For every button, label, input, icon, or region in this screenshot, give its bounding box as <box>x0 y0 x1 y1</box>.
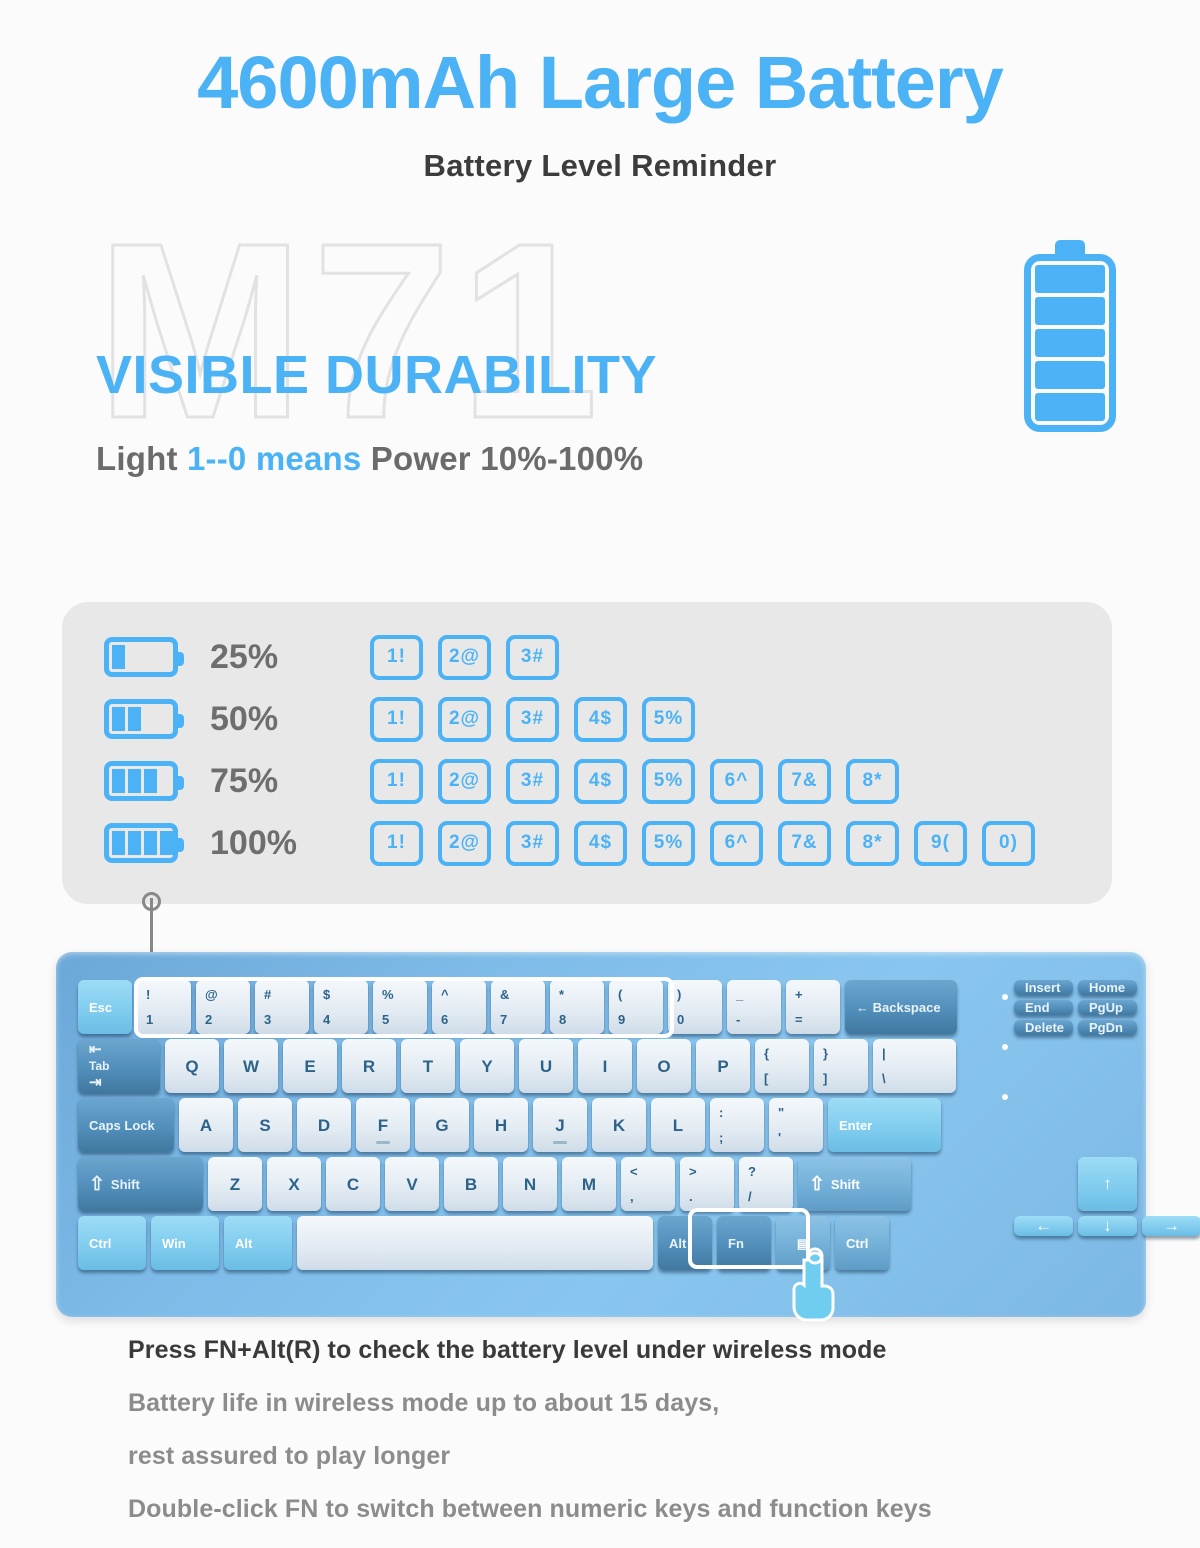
key-g[interactable]: G <box>415 1098 469 1152</box>
key-label: Home <box>1089 980 1125 995</box>
key-q[interactable]: Q <box>165 1039 219 1093</box>
key-label: R <box>363 1058 375 1075</box>
lit-key-cap: 2@ <box>438 635 491 680</box>
key-tab[interactable]: ⇤Tab⇥ <box>78 1039 160 1093</box>
key-delete[interactable]: Delete <box>1014 1020 1073 1035</box>
lit-key-cap: 8* <box>846 821 899 866</box>
key-label: M <box>582 1176 596 1193</box>
key-label: Tab <box>89 1060 109 1072</box>
key-legend-top: ^ <box>441 987 449 1002</box>
keyboard-row-bottom: CtrlWinAltAltFn▤Ctrl <box>78 1216 1124 1270</box>
key-backspace[interactable]: ← Backspace <box>845 980 957 1034</box>
key-legend-top: # <box>264 987 271 1002</box>
key-label: Shift <box>831 1177 860 1192</box>
arrow-row: ↑ <box>1078 1157 1200 1211</box>
battery-level-row: 75%1!2@3#4$5%6^7&8* <box>62 750 1112 812</box>
key-label: Q <box>185 1058 198 1075</box>
battery-body <box>1024 254 1116 432</box>
key-legend-bottom: 6 <box>441 1012 448 1027</box>
lit-key-cap: 3# <box>506 697 559 742</box>
key-home[interactable]: Home <box>1078 980 1137 995</box>
battery-bar <box>112 645 125 669</box>
lit-key-cap: 4$ <box>574 759 627 804</box>
key-legend-bottom: - <box>736 1012 740 1027</box>
key-label: Alt <box>669 1237 686 1250</box>
battery-bar <box>112 831 125 855</box>
key-v[interactable]: V <box>385 1157 439 1211</box>
key-label: Ctrl <box>89 1237 111 1250</box>
lit-key-cap: 3# <box>506 821 559 866</box>
key-label: X <box>288 1176 299 1193</box>
key-t[interactable]: T <box>401 1039 455 1093</box>
key-shift[interactable]: ⇧Shift <box>78 1157 203 1211</box>
keyboard-illustration: Esc!1@2#3$4%5^6&7*8(9)0_-+=← Backspace ⇤… <box>56 952 1146 1317</box>
keyboard-row-number: Esc!1@2#3$4%5^6&7*8(9)0_-+=← Backspace <box>78 980 1124 1034</box>
lit-key-cap: 1! <box>370 697 423 742</box>
footer-line-2: Battery life in wireless mode up to abou… <box>128 1389 1128 1418</box>
key-insert[interactable]: Insert <box>1014 980 1073 995</box>
key-legend-top: < <box>630 1164 638 1179</box>
key-legend-bottom: 4 <box>323 1012 330 1027</box>
key-key[interactable]: |\ <box>873 1039 956 1093</box>
key-label: A <box>200 1117 212 1134</box>
key-legend-top: ( <box>618 987 622 1002</box>
key-label: Y <box>481 1058 492 1075</box>
shift-arrow-icon: ⇧ <box>809 1175 825 1194</box>
battery-segment <box>1035 329 1105 357</box>
key-legend-bottom: ' <box>778 1130 781 1145</box>
key-9[interactable]: (9 <box>609 980 663 1034</box>
status-led-dots <box>1002 994 1008 1100</box>
light-legend: Light 1--0 means Power 10%-100% <box>96 440 643 478</box>
key-u[interactable]: U <box>519 1039 573 1093</box>
key-o[interactable]: O <box>637 1039 691 1093</box>
key-alt[interactable]: Alt <box>658 1216 712 1270</box>
key-legend-bottom: 3 <box>264 1012 271 1027</box>
light-highlight: 1--0 means <box>187 440 361 477</box>
arrow-up-icon: ↑ <box>1103 1174 1112 1194</box>
key-p[interactable]: P <box>696 1039 750 1093</box>
key-legend-bottom: 7 <box>500 1012 507 1027</box>
key-legend-top: _ <box>736 987 743 1002</box>
key-label: T <box>423 1058 433 1075</box>
led-dot <box>1002 1044 1008 1050</box>
key-legend-top: | <box>882 1046 886 1061</box>
key-legend-top: ) <box>677 987 681 1002</box>
key-arrow-right[interactable]: → <box>1142 1216 1200 1236</box>
key-legend-top: % <box>382 987 394 1002</box>
battery-level-icon <box>104 637 178 677</box>
lit-key-list: 1!2@3#4$5% <box>370 697 695 742</box>
key-legend-bottom: 0 <box>677 1012 684 1027</box>
lit-key-list: 1!2@3# <box>370 635 559 680</box>
key-d[interactable]: D <box>297 1098 351 1152</box>
key-3[interactable]: #3 <box>255 980 309 1034</box>
key-label: Shift <box>111 1177 140 1192</box>
key-legend-top: > <box>689 1164 697 1179</box>
battery-percent-label: 25% <box>210 638 360 677</box>
battery-bar <box>112 769 125 793</box>
key-label: C <box>347 1176 359 1193</box>
key-legend-bottom: \ <box>882 1071 886 1086</box>
lit-key-cap: 2@ <box>438 759 491 804</box>
key-legend-bottom: ] <box>823 1071 827 1086</box>
durability-heading: VISIBLE DURABILITY <box>96 344 657 406</box>
key-legend-bottom: 1 <box>146 1012 153 1027</box>
lit-key-cap: 5% <box>642 821 695 866</box>
battery-bar <box>128 769 141 793</box>
battery-bar <box>112 707 125 731</box>
key-key[interactable]: }] <box>814 1039 868 1093</box>
key-label: V <box>406 1176 417 1193</box>
battery-bar <box>144 831 157 855</box>
lit-key-cap: 0) <box>982 821 1035 866</box>
battery-level-row: 50%1!2@3#4$5% <box>62 688 1112 750</box>
key-end[interactable]: End <box>1014 1000 1073 1015</box>
key-key[interactable]: += <box>786 980 840 1034</box>
key-r[interactable]: R <box>342 1039 396 1093</box>
battery-bar <box>160 831 173 855</box>
key-legend-top: { <box>764 1046 769 1061</box>
key-arrow-up[interactable]: ↑ <box>1078 1157 1137 1211</box>
key-label: F <box>378 1117 388 1134</box>
key-legend-bottom: 8 <box>559 1012 566 1027</box>
key-label: End <box>1025 1000 1050 1015</box>
led-dot <box>1002 994 1008 1000</box>
key-legend-top: : <box>719 1105 723 1120</box>
battery-full-icon <box>1024 240 1116 432</box>
key-h[interactable]: H <box>474 1098 528 1152</box>
led-dot <box>1002 1094 1008 1100</box>
key-label: E <box>304 1058 315 1075</box>
battery-segment <box>1035 265 1105 293</box>
tab-left-arrow-icon: ⇤ <box>89 1042 102 1057</box>
key-legend-bottom: , <box>630 1189 634 1204</box>
key-key[interactable]: >. <box>680 1157 734 1211</box>
key-key[interactable]: _- <box>727 980 781 1034</box>
key-4[interactable]: $4 <box>314 980 368 1034</box>
key-legend-top: ? <box>748 1164 756 1179</box>
key-key[interactable]: <, <box>621 1157 675 1211</box>
key-label: K <box>613 1117 625 1134</box>
key-k[interactable]: K <box>592 1098 646 1152</box>
lit-key-cap: 5% <box>642 759 695 804</box>
key-m[interactable]: M <box>562 1157 616 1211</box>
lit-key-cap: 6^ <box>710 821 763 866</box>
battery-percent-label: 50% <box>210 700 360 739</box>
key-0[interactable]: )0 <box>668 980 722 1034</box>
key-label: Enter <box>839 1119 872 1132</box>
key-label: ← Backspace <box>856 1001 941 1014</box>
key-pgup[interactable]: PgUp <box>1078 1000 1137 1015</box>
key-arrow-left[interactable]: ← <box>1014 1216 1073 1236</box>
lit-key-list: 1!2@3#4$5%6^7&8*9(0) <box>370 821 1035 866</box>
key-legend-top: + <box>795 987 803 1002</box>
key-label: D <box>318 1117 330 1134</box>
key-caps-lock[interactable]: Caps Lock <box>78 1098 174 1152</box>
key-legend-bottom: 2 <box>205 1012 212 1027</box>
key-c[interactable]: C <box>326 1157 380 1211</box>
lit-key-cap: 9( <box>914 821 967 866</box>
key-legend-bottom: 5 <box>382 1012 389 1027</box>
key-label: S <box>259 1117 270 1134</box>
key-label: O <box>657 1058 670 1075</box>
key-label: H <box>495 1117 507 1134</box>
key-arrow-down[interactable]: ↓ <box>1078 1216 1137 1236</box>
footer-notes: Press FN+Alt(R) to check the battery lev… <box>128 1336 1128 1548</box>
lit-key-cap: 6^ <box>710 759 763 804</box>
key-n[interactable]: N <box>503 1157 557 1211</box>
battery-segment <box>1035 361 1105 389</box>
key-label: Win <box>162 1237 186 1250</box>
arrow-left-icon: ← <box>1035 1216 1052 1236</box>
key-legend-top: ! <box>146 987 150 1002</box>
arrow-spacer <box>1142 1157 1200 1211</box>
key-label: I <box>603 1058 608 1075</box>
key-8[interactable]: *8 <box>550 980 604 1034</box>
battery-bar <box>144 769 157 793</box>
key-a[interactable]: A <box>179 1098 233 1152</box>
key-w[interactable]: W <box>224 1039 278 1093</box>
battery-terminal <box>1055 240 1085 254</box>
key-legend-bottom: 9 <box>618 1012 625 1027</box>
lit-key-list: 1!2@3#4$5%6^7&8* <box>370 759 899 804</box>
key-1[interactable]: !1 <box>137 980 191 1034</box>
key-legend-top: " <box>778 1105 784 1120</box>
battery-level-icon <box>104 761 178 801</box>
key-win[interactable]: Win <box>151 1216 219 1270</box>
lit-key-cap: 4$ <box>574 821 627 866</box>
key-label: Insert <box>1025 980 1060 995</box>
battery-level-row: 25%1!2@3# <box>62 626 1112 688</box>
key-legend-top: @ <box>205 987 218 1002</box>
key-legend-top: $ <box>323 987 330 1002</box>
key-s[interactable]: S <box>238 1098 292 1152</box>
key-alt[interactable]: Alt <box>224 1216 292 1270</box>
key-2[interactable]: @2 <box>196 980 250 1034</box>
page-title: 4600mAh Large Battery <box>0 44 1200 122</box>
key-j[interactable]: J <box>533 1098 587 1152</box>
model-watermark: M71 <box>96 206 606 456</box>
key-label: G <box>435 1117 448 1134</box>
navigation-cluster: InsertHomeEndPgUpDeletePgDn <box>1014 980 1137 1035</box>
battery-level-panel: 25%1!2@3#50%1!2@3#4$5%75%1!2@3#4$5%6^7&8… <box>62 602 1112 904</box>
key-legend-bottom: [ <box>764 1071 768 1086</box>
key-z[interactable]: Z <box>208 1157 262 1211</box>
lit-key-cap: 3# <box>506 759 559 804</box>
battery-level-row: 100%1!2@3#4$5%6^7&8*9(0) <box>62 812 1112 874</box>
key-5[interactable]: %5 <box>373 980 427 1034</box>
battery-segment <box>1035 393 1105 421</box>
key-shift[interactable]: ⇧Shift <box>798 1157 911 1211</box>
key-label: PgDn <box>1089 1020 1123 1035</box>
key-legend-bottom: . <box>689 1189 693 1204</box>
key-label: Z <box>230 1176 240 1193</box>
lit-key-cap: 1! <box>370 759 423 804</box>
hero-section: M71 VISIBLE DURABILITY Light 1--0 means … <box>0 222 1200 522</box>
key-ctrl[interactable]: Ctrl <box>78 1216 146 1270</box>
arrow-right-icon: → <box>1163 1216 1180 1236</box>
key-enter[interactable]: Enter <box>828 1098 941 1152</box>
leader-dot-top <box>142 892 161 911</box>
key-f[interactable]: F <box>356 1098 410 1152</box>
key-legend-bottom: = <box>795 1012 803 1027</box>
shift-arrow-icon: ⇧ <box>89 1175 105 1194</box>
key-i[interactable]: I <box>578 1039 632 1093</box>
nav-cluster-row: DeletePgDn <box>1014 1020 1137 1035</box>
footer-line-1: Press FN+Alt(R) to check the battery lev… <box>128 1336 1128 1365</box>
light-suffix: Power 10%-100% <box>361 440 643 477</box>
key-label: P <box>717 1058 728 1075</box>
key-key[interactable]: {[ <box>755 1039 809 1093</box>
arrow-row: ←↓→ <box>1014 1216 1200 1236</box>
lit-key-cap: 4$ <box>574 697 627 742</box>
key-legend-bottom: / <box>748 1189 752 1204</box>
battery-percent-label: 100% <box>210 824 360 863</box>
key-legend-top: & <box>500 987 509 1002</box>
key-label: W <box>243 1058 259 1075</box>
battery-bar <box>128 831 141 855</box>
key-pgdn[interactable]: PgDn <box>1078 1020 1137 1035</box>
footer-line-3: rest assured to play longer <box>128 1442 1128 1471</box>
nav-cluster-row: EndPgUp <box>1014 1000 1137 1015</box>
key-e[interactable]: E <box>283 1039 337 1093</box>
lit-key-cap: 8* <box>846 759 899 804</box>
key-legend-top: } <box>823 1046 828 1061</box>
keyboard-row-home: Caps LockASDFGHJKL:;"'Enter <box>78 1098 1124 1152</box>
key-label: L <box>673 1117 683 1134</box>
battery-bar <box>128 707 141 731</box>
lit-key-cap: 1! <box>370 635 423 680</box>
key-label: U <box>540 1058 552 1075</box>
lit-key-cap: 2@ <box>438 697 491 742</box>
key-l[interactable]: L <box>651 1098 705 1152</box>
key-label: Ctrl <box>846 1237 868 1250</box>
key-label: Caps Lock <box>89 1119 155 1132</box>
page-subtitle: Battery Level Reminder <box>0 148 1200 184</box>
key-label: J <box>555 1117 564 1134</box>
key-space[interactable] <box>297 1216 653 1270</box>
hand-pointer-cursor <box>784 1242 844 1322</box>
arrow-key-cluster: ↑←↓→ <box>1014 1157 1200 1241</box>
key-label: N <box>524 1176 536 1193</box>
arrow-down-icon: ↓ <box>1103 1216 1112 1236</box>
key-b[interactable]: B <box>444 1157 498 1211</box>
lit-key-cap: 1! <box>370 821 423 866</box>
battery-level-icon <box>104 823 178 863</box>
keyboard-row-qwerty: ⇤Tab⇥QWERTYUIOP{[}]|\ <box>78 1039 1124 1093</box>
tab-right-arrow-icon: ⇥ <box>89 1075 102 1090</box>
key-esc[interactable]: Esc <box>78 980 132 1034</box>
key-x[interactable]: X <box>267 1157 321 1211</box>
key-legend-bottom: ; <box>719 1130 723 1145</box>
key-legend-top: * <box>559 987 564 1002</box>
lit-key-cap: 2@ <box>438 821 491 866</box>
key-label: B <box>465 1176 477 1193</box>
lit-key-cap: 5% <box>642 697 695 742</box>
keyboard-row-shift: ⇧ShiftZXCVBNM<,>.?/⇧Shift <box>78 1157 1124 1211</box>
key-key[interactable]: "' <box>769 1098 823 1152</box>
key-label: Esc <box>89 1001 112 1014</box>
key-fn[interactable]: Fn <box>717 1216 771 1270</box>
battery-percent-label: 75% <box>210 762 360 801</box>
key-key[interactable]: :; <box>710 1098 764 1152</box>
lit-key-cap: 3# <box>506 635 559 680</box>
key-label: Alt <box>235 1237 252 1250</box>
key-key[interactable]: ?/ <box>739 1157 793 1211</box>
battery-level-icon <box>104 699 178 739</box>
key-label: Delete <box>1025 1020 1064 1035</box>
light-prefix: Light <box>96 440 187 477</box>
key-7[interactable]: &7 <box>491 980 545 1034</box>
nav-cluster-row: InsertHome <box>1014 980 1137 995</box>
lit-key-cap: 7& <box>778 821 831 866</box>
footer-line-4: Double-click FN to switch between numeri… <box>128 1495 1128 1524</box>
key-label: PgUp <box>1089 1000 1123 1015</box>
key-y[interactable]: Y <box>460 1039 514 1093</box>
lit-key-cap: 7& <box>778 759 831 804</box>
battery-segment <box>1035 297 1105 325</box>
key-6[interactable]: ^6 <box>432 980 486 1034</box>
key-label: Fn <box>728 1237 744 1250</box>
